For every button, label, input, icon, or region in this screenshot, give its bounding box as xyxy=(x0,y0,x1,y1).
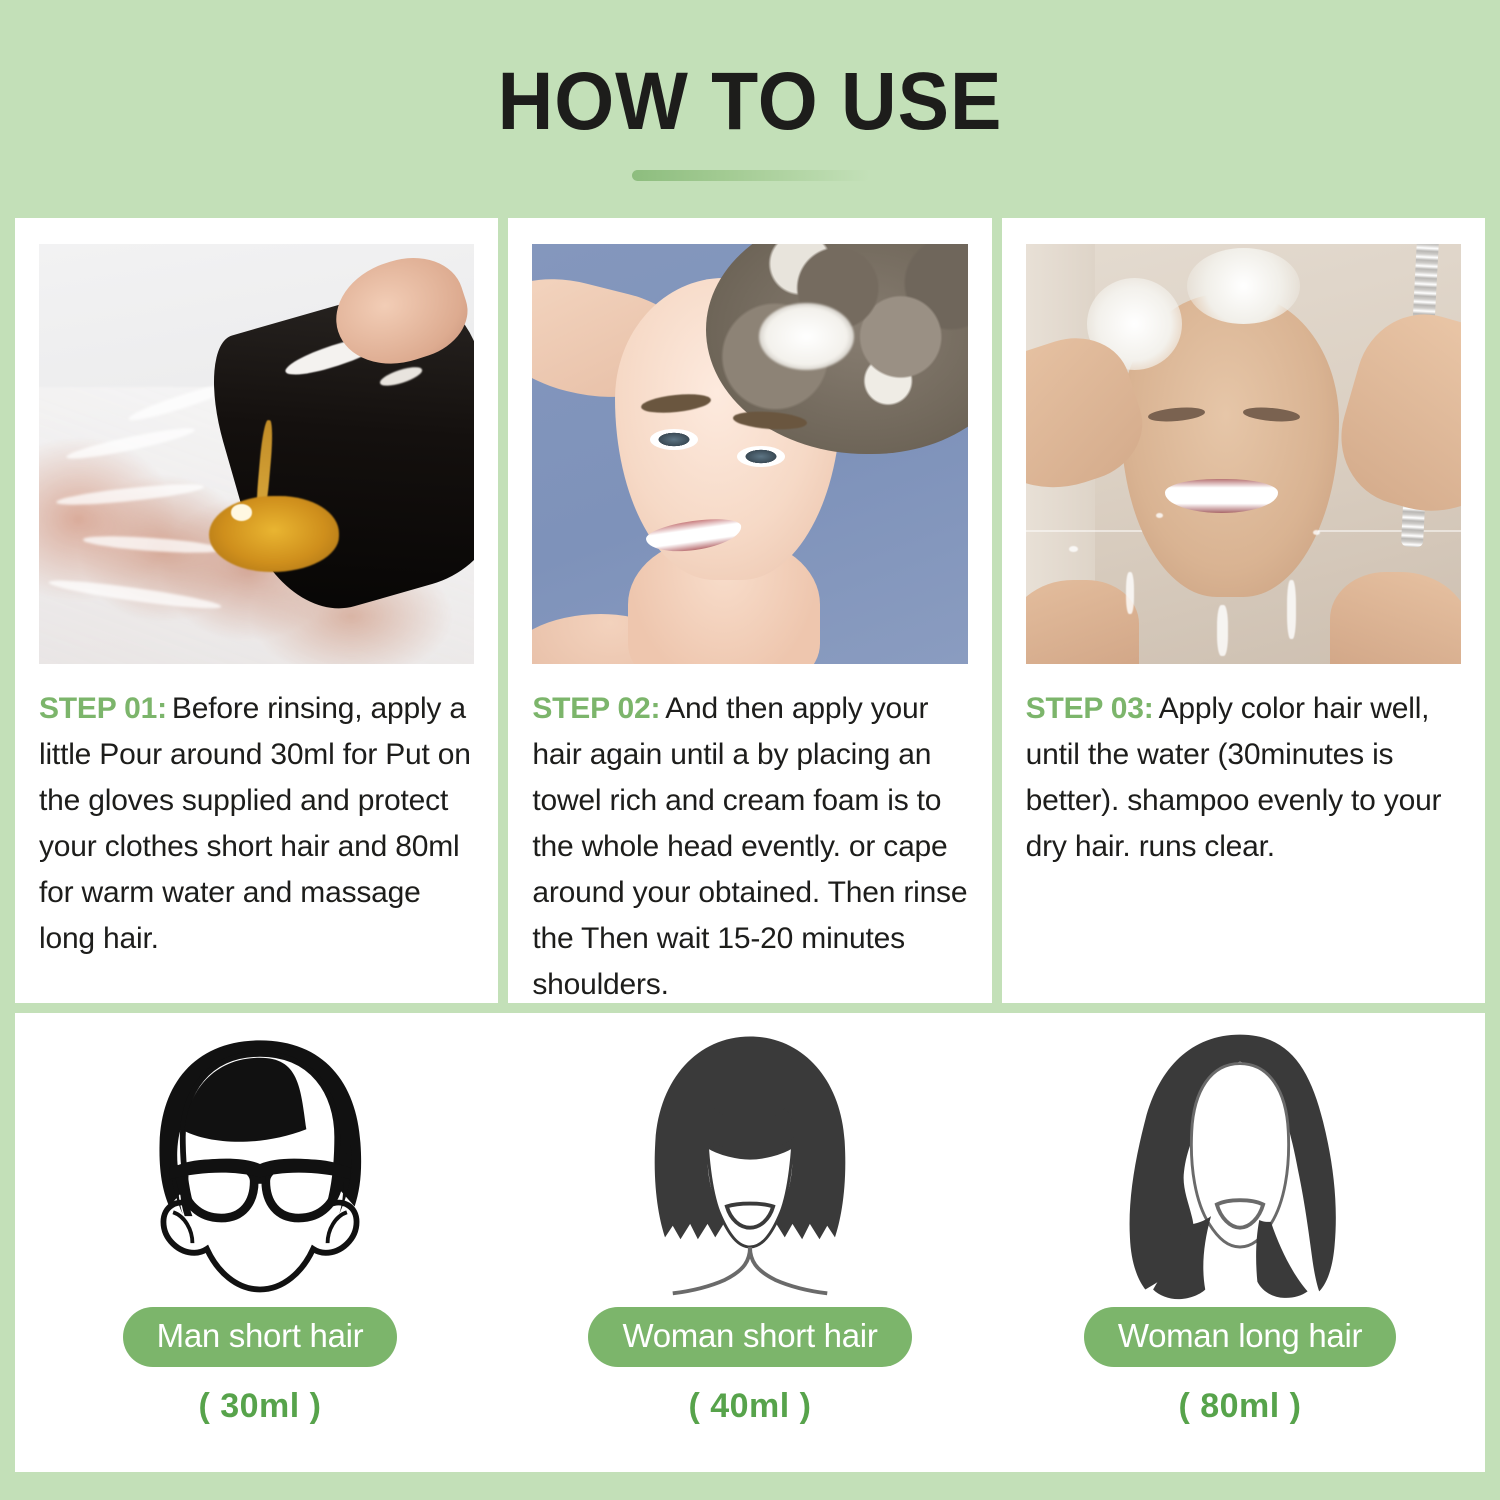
foam-blob xyxy=(759,303,855,370)
page-title: HOW TO USE xyxy=(45,58,1455,146)
step-1-body: Before rinsing, apply a little Pour arou… xyxy=(39,692,471,955)
hair-option-woman-short: Woman short hair ( 40ml ) xyxy=(505,1013,995,1472)
step-2-photo xyxy=(532,244,967,664)
foam-blob xyxy=(1187,248,1300,324)
step-3-photo xyxy=(1026,244,1461,664)
header: HOW TO USE xyxy=(0,0,1500,218)
volume-woman-short-hair: ( 40ml ) xyxy=(688,1387,811,1426)
step-2-text: STEP 02:And then apply your hair again u… xyxy=(532,686,967,1008)
step-3-text: STEP 03:Apply color hair well, until the… xyxy=(1026,686,1461,870)
body-right xyxy=(1330,572,1461,664)
liquid-pool xyxy=(209,496,340,572)
water-stream xyxy=(1287,580,1296,639)
woman-short-hair-icon xyxy=(605,1023,895,1303)
hair-option-woman-long: Woman long hair ( 80ml ) xyxy=(995,1013,1485,1472)
step-card-3: STEP 03:Apply color hair well, until the… xyxy=(1002,218,1485,1003)
water-stream xyxy=(1217,605,1227,655)
step-3-label: STEP 03: xyxy=(1026,692,1154,725)
volume-man-short-hair: ( 30ml ) xyxy=(198,1387,321,1426)
pill-man-short-hair[interactable]: Man short hair xyxy=(123,1307,398,1367)
man-short-hair-icon xyxy=(115,1023,405,1303)
water-stream xyxy=(1126,572,1134,614)
step-card-2: STEP 02:And then apply your hair again u… xyxy=(508,218,991,1003)
step-1-text: STEP 01:Before rinsing, apply a little P… xyxy=(39,686,474,962)
steps-row: STEP 01:Before rinsing, apply a little P… xyxy=(15,218,1485,1003)
hair-option-man-short: Man short hair ( 30ml ) xyxy=(15,1013,505,1472)
step-card-1: STEP 01:Before rinsing, apply a little P… xyxy=(15,218,498,1003)
eye-left xyxy=(650,429,698,450)
title-underline-bar xyxy=(632,170,870,181)
water-droplet xyxy=(1156,513,1163,518)
pill-woman-short-hair[interactable]: Woman short hair xyxy=(588,1307,911,1367)
step-1-photo xyxy=(39,244,474,664)
body-left xyxy=(1026,580,1139,664)
dosage-card: Man short hair ( 30ml ) Woman short hair… xyxy=(15,1013,1485,1472)
water-droplet xyxy=(1313,530,1320,535)
volume-woman-long-hair: ( 80ml ) xyxy=(1178,1387,1301,1426)
step-1-label: STEP 01: xyxy=(39,692,167,725)
eye-right xyxy=(737,446,785,467)
how-to-use-infographic: HOW TO USE STEP 01: xyxy=(0,0,1500,1500)
step-2-label: STEP 02: xyxy=(532,692,660,725)
woman-long-hair-icon xyxy=(1095,1023,1385,1303)
step-2-body: And then apply your hair again until a b… xyxy=(532,692,967,1001)
pill-woman-long-hair[interactable]: Woman long hair xyxy=(1084,1307,1396,1367)
